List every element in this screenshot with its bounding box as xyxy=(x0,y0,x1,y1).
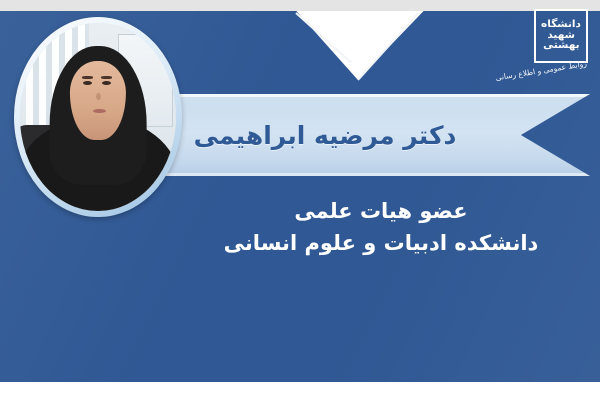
portrait-photo-frame xyxy=(14,17,182,217)
person-mouth xyxy=(93,109,106,113)
university-logo: دانشگاه شهید بهشتی روابط عمومی و اطلاع ر… xyxy=(498,9,590,87)
department-name: دانشکده ادبیات و علوم انسانی xyxy=(175,228,587,258)
logo-square-frame: دانشگاه شهید بهشتی xyxy=(534,9,588,63)
role-title: عضو هیات علمی xyxy=(175,196,587,226)
person-eyebrow-left xyxy=(82,76,93,79)
person-eyebrow-right xyxy=(101,76,112,79)
faculty-profile-card: دکتر مرضیه ابراهیمی عضو هیات علمی دانشکد… xyxy=(0,0,600,400)
person-nose xyxy=(96,93,101,100)
bottom-white-margin xyxy=(0,382,600,400)
role-block: عضو هیات علمی دانشکده ادبیات و علوم انسا… xyxy=(175,196,587,259)
logo-line-3: بهشتی xyxy=(543,41,579,52)
logo-calligraphy: دانشگاه شهید بهشتی xyxy=(539,14,583,58)
avatar xyxy=(20,23,176,211)
